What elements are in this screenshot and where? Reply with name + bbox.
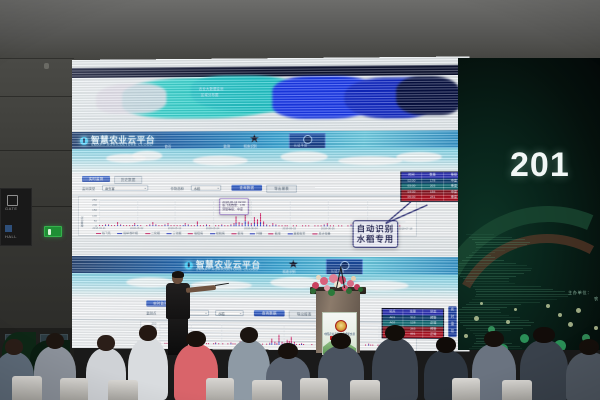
crop-variety-value: 水稻 — [194, 186, 200, 190]
export-button[interactable]: 导出报表 — [266, 184, 297, 193]
legend-label: 粘虫 — [275, 231, 281, 235]
chart-bar — [150, 225, 151, 226]
platform-subtitle: SMART AGRICULTURE CLOUD — [91, 143, 153, 147]
crop-value-2: 水稻 — [218, 311, 224, 315]
chair — [300, 378, 328, 400]
exit-sign — [44, 226, 62, 237]
banner-dot — [464, 334, 468, 338]
chart-bar — [155, 225, 156, 226]
audience-head — [46, 333, 64, 349]
chart-bar — [266, 226, 267, 227]
audience-head — [5, 339, 23, 355]
banner-dot — [474, 316, 479, 321]
chart-bar — [117, 225, 118, 226]
chart-bar — [182, 226, 183, 227]
event-backdrop-banner: 201 主办单位： 农 — [458, 58, 600, 350]
legend-label: 稻飞虱 — [102, 231, 111, 235]
legend-item[interactable]: 纹枯病 — [210, 231, 225, 235]
chart-bar — [221, 225, 222, 226]
banner-texture-line — [460, 276, 516, 277]
export-button-2[interactable]: 导出报表 — [289, 310, 320, 319]
y-tick: 250 — [81, 198, 97, 202]
chevron-down-icon — [144, 188, 146, 189]
hero-caption-1: 农业大数据监测 — [199, 86, 224, 91]
organization-emblem-icon — [335, 320, 347, 332]
banner-texture-line — [458, 317, 520, 318]
chart-bar — [272, 225, 273, 226]
chart-bar — [254, 223, 255, 226]
map-haze — [96, 83, 166, 114]
legend-label: 其他虫害 — [293, 231, 305, 235]
monitor-type-value: 病虫害 — [105, 186, 115, 190]
audience-head — [278, 343, 297, 359]
chart-bar — [248, 225, 249, 227]
audience-head — [240, 327, 258, 343]
chart-tooltip: 2018-06-13 02:00 稻飞虱数量：178 预警等级：中度 — [219, 198, 248, 215]
flower — [347, 280, 354, 287]
legend-label: 稻纵卷叶螟 — [123, 231, 138, 235]
x-tick: 2018-05-24 — [198, 227, 226, 230]
banner-texture-line — [476, 291, 565, 292]
chart-bar — [269, 344, 270, 345]
audience-head — [186, 331, 205, 347]
banner-texture-line — [475, 242, 530, 243]
audience-head — [331, 333, 351, 349]
chart-bar — [368, 345, 369, 346]
strip-char: 监 — [448, 321, 456, 328]
legend-label: 叶蝉 — [256, 231, 262, 235]
chart-bar — [236, 223, 237, 226]
tooltip-line-3: 预警等级：中度 — [222, 208, 245, 212]
chart-bar — [230, 344, 231, 345]
platform-logo-icon — [80, 136, 88, 144]
banner-texture-line — [458, 320, 529, 321]
chart-bar — [263, 225, 264, 227]
y-tick: 50 — [81, 219, 97, 223]
banner-texture-line — [475, 289, 554, 290]
audience-head — [139, 325, 157, 341]
chart-bar — [242, 225, 243, 226]
query-button[interactable]: 查询数据 — [231, 184, 262, 191]
chart-bar — [206, 226, 207, 227]
chart-bar — [164, 226, 165, 227]
chair — [502, 380, 532, 400]
audience-head — [436, 337, 455, 353]
banner-texture-line — [475, 296, 568, 297]
organizer-label: 主办单位： — [568, 290, 592, 296]
flower — [316, 275, 321, 280]
x-tick: 2018-06-26 — [313, 227, 342, 230]
chart-bar — [260, 222, 261, 226]
y-tick: 200 — [81, 203, 97, 207]
x-tick: 2018-06-15 — [275, 227, 304, 230]
banner-texture-line — [462, 307, 506, 308]
y-tick: 150 — [81, 208, 97, 212]
chart-bar — [185, 225, 186, 226]
x-tick: 2018-04-21 — [85, 227, 113, 230]
certification-badge[interactable]: 认证平台 — [289, 132, 326, 148]
legend-label: 总计虫量 — [319, 231, 331, 235]
chart-bar — [274, 344, 275, 345]
banner-texture-line — [466, 257, 495, 258]
chart-bar — [233, 225, 234, 226]
sky-decoration-bottom — [72, 273, 469, 299]
chair — [350, 380, 380, 400]
chart-bar — [138, 226, 139, 227]
banner-texture-line — [472, 299, 556, 300]
callout-leader-lines — [346, 196, 469, 237]
banner-texture-line — [458, 270, 531, 271]
banner-texture-line — [476, 247, 517, 248]
flower — [328, 289, 335, 296]
gridline-h — [159, 324, 409, 326]
dashboard-top-header: 智慧农业云平台 SMART AGRICULTURE CLOUD 首页 监测 精准… — [72, 130, 469, 149]
nav-item-home[interactable]: 首页 — [164, 143, 171, 148]
banner-texture-line — [476, 244, 527, 245]
chart-bar — [197, 225, 198, 226]
legend-label: 纹枯病 — [216, 231, 225, 235]
banner-dot — [520, 334, 529, 343]
chart-bar — [245, 221, 246, 226]
chevron-down-icon-2 — [217, 188, 219, 189]
banner-dot — [576, 308, 581, 313]
banner-texture-line — [462, 260, 504, 261]
gate-label: GATE — [5, 206, 18, 211]
history-data-button[interactable]: 历史数据 — [114, 175, 142, 184]
banner-texture-line — [475, 250, 505, 251]
banner-dot — [594, 326, 598, 330]
presenter-hair — [172, 271, 184, 278]
query-button-2[interactable]: 查询数据 — [254, 310, 285, 317]
legend-item[interactable]: 蓟马 — [231, 231, 243, 235]
banner-texture-line — [476, 294, 571, 295]
banner-texture-line — [460, 322, 534, 323]
chart-bar — [275, 226, 276, 227]
chart-bar — [167, 225, 168, 226]
chair — [108, 380, 138, 400]
event-year: 201 — [510, 146, 570, 185]
crop-variety-select[interactable]: 水稻 — [191, 184, 221, 190]
y-tick: 100 — [81, 214, 97, 218]
chart-bar — [230, 226, 231, 227]
chair — [252, 380, 282, 400]
field2-label: 作物品种 — [171, 186, 184, 191]
banner-texture-line — [472, 239, 525, 240]
chart-bar — [323, 226, 324, 227]
chart-bar — [152, 225, 153, 226]
wall-fixture — [44, 63, 49, 69]
legend-item[interactable]: 总计虫量 — [312, 231, 330, 235]
legend-label: 三化螟 — [173, 231, 182, 235]
dashboard-bottom-header: 智慧农业云平台 SMART AGRICULTURE CLOUD 精准识别 认证平… — [72, 256, 469, 275]
map-region-dark — [396, 76, 461, 115]
banner-texture-line — [472, 252, 495, 253]
legend-label: 稻瘟病 — [194, 231, 203, 235]
banner-dot — [514, 308, 517, 311]
chart-bar — [301, 344, 302, 345]
realtime-monitor-button[interactable]: 实时监测 — [82, 175, 110, 182]
star-emblem-label-2: 精准识别 — [283, 268, 296, 273]
field1-label: 监测类型 — [82, 186, 95, 191]
x-tick: 2018-06-04 — [237, 227, 266, 230]
legend-item[interactable]: 叶蝉 — [250, 231, 262, 235]
gridline-h — [159, 328, 409, 330]
audience-head — [484, 331, 503, 347]
banner-texture-line — [463, 325, 531, 326]
chair — [60, 378, 88, 400]
chart-bar — [188, 226, 189, 227]
audience-head — [533, 327, 554, 343]
venue-sign-panel: GATE HALL — [0, 188, 32, 246]
chart-bar — [326, 225, 327, 226]
banner-dot — [546, 304, 550, 308]
hall-icon — [5, 225, 12, 232]
chart-bar — [239, 225, 240, 226]
chart-bar — [257, 224, 258, 226]
hero-map-banner: 农业大数据监测 区域分布图 — [72, 65, 469, 130]
banner-texture-line — [459, 309, 499, 310]
gate-icon — [7, 195, 18, 206]
audience-head — [97, 335, 115, 351]
banner-texture-line — [458, 268, 532, 269]
banner-texture-line — [466, 281, 508, 282]
ceiling-wall — [0, 0, 600, 62]
banner-texture-line — [458, 312, 501, 313]
chart-bar — [135, 225, 136, 226]
audience-head — [385, 325, 405, 341]
chart-bar — [105, 225, 106, 226]
legend-item[interactable]: 三化螟 — [167, 231, 182, 235]
banner-texture-line — [470, 283, 516, 284]
realtime-monitor-strip[interactable]: 实时监控 — [448, 306, 456, 337]
sky-decoration-top — [72, 148, 469, 173]
header-gradient-2 — [72, 256, 469, 275]
legend-item[interactable]: 稻飞虱 — [96, 231, 111, 235]
strip-char: 实 — [448, 306, 456, 313]
legend-item[interactable]: 其他虫害 — [287, 231, 305, 235]
table-cell: 091 — [403, 332, 423, 338]
legend-label: 二化螟 — [151, 231, 160, 235]
hall-label: HALL — [5, 234, 17, 239]
audience-member — [566, 352, 600, 400]
banner-texture-line — [466, 304, 522, 305]
chart-bar — [120, 225, 121, 226]
strip-char: 控 — [448, 328, 456, 335]
banner-texture-line — [458, 315, 509, 316]
nav-item-monitor[interactable]: 监测 — [223, 143, 230, 148]
hero-caption-2: 区域分布图 — [201, 92, 219, 97]
legend-label: 蓟马 — [238, 231, 244, 235]
led-display-screen: 农业大数据监测 区域分布图 智慧农业云平台 SMART AGRICULTURE … — [72, 56, 469, 351]
banner-texture-line — [459, 263, 516, 264]
platform-logo-icon-2 — [185, 261, 193, 269]
running-man-icon — [48, 229, 51, 235]
legend-item[interactable]: 二化螟 — [145, 231, 160, 235]
organizer-value: 农 — [594, 296, 599, 302]
certification-label: 认证平台 — [294, 143, 308, 147]
chair — [452, 378, 480, 400]
legend-item[interactable]: 稻纵卷叶螟 — [117, 231, 138, 235]
chart-bar — [215, 344, 216, 345]
x-tick: 2018-05-13 — [160, 227, 188, 230]
legend-item[interactable]: 粘虫 — [269, 231, 281, 235]
banner-dot — [558, 313, 562, 317]
banner-texture-line — [458, 273, 524, 274]
banner-texture-line — [466, 234, 494, 235]
crop-select-2[interactable]: 水稻 — [215, 309, 244, 315]
x-tick: 2018-05-02 — [123, 227, 151, 230]
chevron-down-icon-4 — [239, 313, 241, 314]
flower — [351, 276, 356, 281]
audience-head — [579, 339, 599, 355]
flower — [310, 288, 316, 294]
legend-item[interactable]: 稻瘟病 — [188, 231, 203, 235]
chevron-down-icon-3 — [204, 313, 206, 314]
strip-char: 时 — [448, 313, 456, 320]
star-emblem-label: 精准识别 — [244, 143, 257, 148]
chart-bar — [251, 225, 252, 226]
flower — [320, 277, 328, 285]
chair — [12, 376, 42, 400]
flower — [346, 288, 352, 294]
chart-bar — [108, 226, 109, 227]
banner-texture-line — [473, 286, 541, 287]
chair — [206, 378, 234, 400]
chart-bar — [272, 343, 273, 345]
monitor-type-select[interactable]: 病虫害 — [102, 184, 148, 190]
banner-dot — [506, 320, 510, 324]
platform-subtitle-2: SMART AGRICULTURE CLOUD — [196, 267, 259, 271]
field1-label-2: 监测点 — [146, 310, 156, 315]
chart-bar — [279, 342, 280, 345]
banner-texture-line — [469, 255, 491, 256]
banner-dot — [568, 322, 573, 327]
banner-dot — [480, 302, 483, 305]
banner-texture-line — [469, 237, 511, 238]
banner-texture-line — [458, 265, 527, 266]
banner-texture-line — [463, 278, 510, 279]
conference-hall-scene: GATE HALL 农业大数据监测 区域分布图 智慧农业云平台 — [0, 0, 600, 400]
flower — [358, 287, 363, 292]
